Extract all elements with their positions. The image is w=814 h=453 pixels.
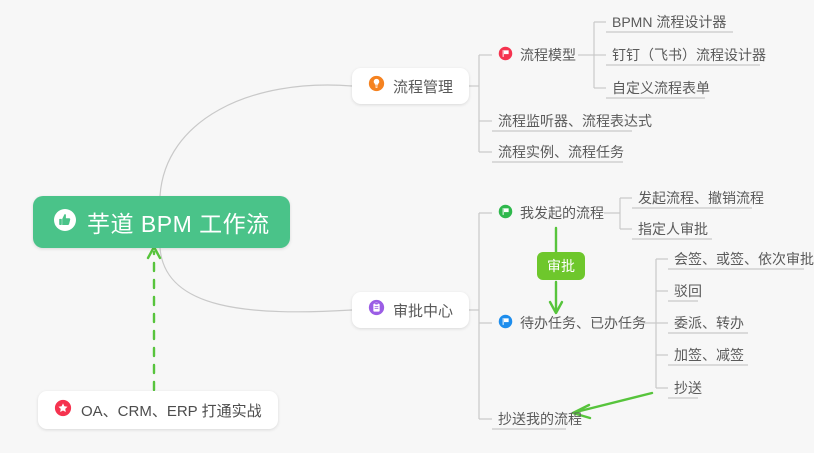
label-delegate-transfer: 委派、转办 [674, 315, 744, 332]
annotation-tag-approval: 审批 [537, 252, 585, 280]
flag-icon [498, 204, 513, 222]
node-custom-process-form[interactable]: 自定义流程表单 [606, 77, 716, 101]
arrowhead-callout-to-root [148, 247, 160, 258]
label-process-instance-task: 流程实例、流程任务 [498, 144, 624, 161]
branch-node-approval-center[interactable]: 审批中心 [352, 292, 469, 328]
label-process-listener-expression: 流程监听器、流程表达式 [498, 113, 652, 130]
pin-bulb-icon [368, 75, 385, 97]
node-cc-to-me[interactable]: 抄送我的流程 [492, 408, 588, 432]
clipboard-icon [368, 299, 385, 321]
branch-node-process-management[interactable]: 流程管理 [352, 68, 469, 104]
node-multi-sign[interactable]: 会签、或签、依次审批 [668, 248, 814, 272]
star-icon [54, 399, 72, 422]
node-reject[interactable]: 驳回 [668, 280, 708, 304]
label-cc: 抄送 [674, 380, 702, 397]
label-todo-done-tasks: 待办任务、已办任务 [520, 315, 646, 332]
label-assignee-approval: 指定人审批 [638, 221, 708, 238]
flag-icon [498, 314, 513, 332]
node-cc[interactable]: 抄送 [668, 377, 708, 401]
branch-label-approval-center: 审批中心 [393, 300, 453, 321]
callout-label: OA、CRM、ERP 打通实战 [81, 400, 262, 421]
root-label: 芋道 BPM 工作流 [87, 205, 270, 239]
label-reject: 驳回 [674, 283, 702, 300]
node-process-listener-expression[interactable]: 流程监听器、流程表达式 [492, 110, 658, 134]
node-my-initiated-process[interactable]: 我发起的流程 [492, 202, 610, 226]
label-dingtalk-feishu-designer: 钉钉（飞书）流程设计器 [612, 47, 766, 64]
node-start-cancel-process[interactable]: 发起流程、撤销流程 [632, 187, 770, 211]
label-start-cancel-process: 发起流程、撤销流程 [638, 190, 764, 207]
label-bpmn-designer: BPMN 流程设计器 [612, 14, 726, 31]
mindmap-canvas: 芋道 BPM 工作流 流程管理 流程模型 BPMN 流程设计器 钉钉（飞书 [0, 0, 814, 453]
label-process-model: 流程模型 [520, 47, 576, 64]
thumbs-up-icon [53, 208, 77, 237]
label-custom-process-form: 自定义流程表单 [612, 80, 710, 97]
node-todo-done-tasks[interactable]: 待办任务、已办任务 [492, 312, 652, 336]
label-my-initiated-process: 我发起的流程 [520, 205, 604, 222]
branch-label-process-management: 流程管理 [393, 76, 453, 97]
annotation-tag-label: 审批 [547, 256, 575, 276]
wire-root-to-approval-center [160, 248, 352, 312]
label-add-remove-sign: 加签、减签 [674, 347, 744, 364]
callout-node-integration[interactable]: OA、CRM、ERP 打通实战 [38, 391, 278, 429]
node-process-instance-task[interactable]: 流程实例、流程任务 [492, 141, 630, 165]
flag-icon [498, 46, 513, 64]
node-dingtalk-feishu-designer[interactable]: 钉钉（飞书）流程设计器 [606, 44, 772, 68]
node-add-remove-sign[interactable]: 加签、减签 [668, 344, 750, 368]
node-bpmn-designer[interactable]: BPMN 流程设计器 [606, 11, 732, 35]
label-cc-to-me: 抄送我的流程 [498, 411, 582, 428]
node-process-model[interactable]: 流程模型 [492, 44, 582, 68]
label-multi-sign: 会签、或签、依次审批 [674, 251, 814, 268]
node-assignee-approval[interactable]: 指定人审批 [632, 218, 714, 242]
node-delegate-transfer[interactable]: 委派、转办 [668, 312, 750, 336]
wire-root-to-process-management [160, 85, 352, 196]
root-node[interactable]: 芋道 BPM 工作流 [33, 196, 290, 248]
